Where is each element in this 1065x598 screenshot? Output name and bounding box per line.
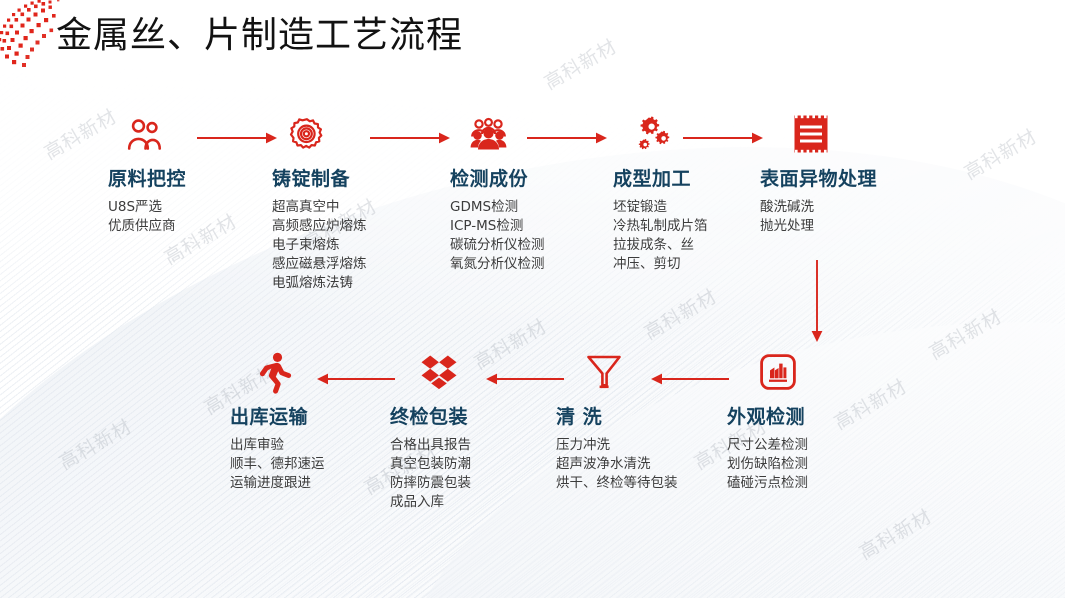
step-detail-line: GDMS检测	[450, 198, 620, 217]
step-detail-list: 出库审验顺丰、德邦速运运输进度跟进	[230, 436, 400, 493]
step-detail-line: 高频感应炉熔炼	[272, 217, 442, 236]
page-title: 金属丝、片制造工艺流程	[56, 6, 463, 58]
step-detail-line: 尺寸公差检测	[727, 436, 897, 455]
step-detail-list: 合格出具报告真空包装防潮防摔防震包装成品入库	[390, 436, 560, 512]
step-title: 出库运输	[230, 402, 400, 429]
step-title: 铸锭制备	[272, 164, 442, 191]
step-detail-line: U8S严选	[108, 198, 278, 217]
people-group-icon	[450, 112, 620, 156]
process-step-forming-processing[interactable]: 成型加工坯锭锻造冷热轧制成片箔拉拔成条、丝冲压、剪切	[613, 112, 783, 274]
process-step-final-inspection-packaging[interactable]: 终检包装合格出具报告真空包装防潮防摔防震包装成品入库	[390, 350, 560, 512]
step-title: 外观检测	[727, 402, 897, 429]
step-detail-line: 拉拔成条、丝	[613, 236, 783, 255]
step-detail-line: 超声波净水清洗	[556, 455, 726, 474]
process-step-composition-testing[interactable]: 检测成份GDMS检测ICP-MS检测碳硫分析仪检测氧氮分析仪检测	[450, 112, 620, 274]
process-step-appearance-inspection[interactable]: 外观检测尺寸公差检测划伤缺陷检测磕碰污点检测	[727, 350, 897, 493]
step-title: 表面异物处理	[760, 164, 930, 191]
people-pair-icon	[108, 112, 278, 156]
step-detail-line: 压力冲洗	[556, 436, 726, 455]
funnel-icon	[556, 350, 726, 394]
process-step-raw-material-control[interactable]: 原料把控U8S严选优质供应商	[108, 112, 278, 236]
step-detail-line: 出库审验	[230, 436, 400, 455]
step-detail-line: 防摔防震包装	[390, 474, 560, 493]
step-detail-list: GDMS检测ICP-MS检测碳硫分析仪检测氧氮分析仪检测	[450, 198, 620, 274]
step-detail-line: 氧氮分析仪检测	[450, 255, 620, 274]
step-detail-list: 坯锭锻造冷热轧制成片箔拉拔成条、丝冲压、剪切	[613, 198, 783, 274]
watermark-text: 高科新材	[854, 502, 937, 565]
step-detail-line: 优质供应商	[108, 217, 278, 236]
step-detail-line: 碳硫分析仪检测	[450, 236, 620, 255]
step-detail-line: 感应磁悬浮熔炼	[272, 255, 442, 274]
step-detail-line: 冲压、剪切	[613, 255, 783, 274]
factory-box-icon	[727, 350, 897, 394]
step-detail-list: 尺寸公差检测划伤缺陷检测磕碰污点检测	[727, 436, 897, 493]
step-detail-list: 超高真空中高频感应炉熔炼电子束熔炼感应磁悬浮熔炼电弧熔炼法铸	[272, 198, 442, 293]
flow-arrow-down	[810, 260, 824, 342]
step-detail-line: 坯锭锻造	[613, 198, 783, 217]
step-detail-line: 抛光处理	[760, 217, 930, 236]
step-detail-list: 压力冲洗超声波净水清洗烘干、终检等待包装	[556, 436, 726, 493]
step-detail-line: 合格出具报告	[390, 436, 560, 455]
step-detail-line: 顺丰、德邦速运	[230, 455, 400, 474]
watermark-text: 高科新材	[924, 302, 1007, 365]
step-detail-line: ICP-MS检测	[450, 217, 620, 236]
process-step-ingot-preparation[interactable]: 铸锭制备超高真空中高频感应炉熔炼电子束熔炼感应磁悬浮熔炼电弧熔炼法铸	[272, 112, 442, 293]
step-detail-line: 烘干、终检等待包装	[556, 474, 726, 493]
step-title: 成型加工	[613, 164, 783, 191]
step-detail-line: 磕碰污点检测	[727, 474, 897, 493]
step-detail-line: 电弧熔炼法铸	[272, 274, 442, 293]
step-detail-list: U8S严选优质供应商	[108, 198, 278, 236]
step-title: 清 洗	[556, 402, 726, 429]
gear-icon	[272, 112, 442, 156]
gears-double-icon	[613, 112, 783, 156]
document-lines-icon	[760, 112, 930, 156]
step-detail-line: 电子束熔炼	[272, 236, 442, 255]
watermark-text: 高科新材	[539, 32, 622, 95]
watermark-text: 高科新材	[639, 282, 722, 345]
process-step-surface-treatment[interactable]: 表面异物处理酸洗碱洗抛光处理	[760, 112, 930, 236]
step-detail-line: 成品入库	[390, 493, 560, 512]
step-title: 检测成份	[450, 164, 620, 191]
watermark-text: 高科新材	[54, 412, 137, 475]
slide-canvas: 高科新材高科新材高科新材高科新材高科新材高科新材高科新材高科新材高科新材高科新材…	[0, 0, 1065, 598]
step-detail-line: 运输进度跟进	[230, 474, 400, 493]
step-title: 终检包装	[390, 402, 560, 429]
step-title: 原料把控	[108, 164, 278, 191]
walking-person-icon	[230, 350, 400, 394]
step-detail-line: 超高真空中	[272, 198, 442, 217]
step-detail-line: 划伤缺陷检测	[727, 455, 897, 474]
step-detail-list: 酸洗碱洗抛光处理	[760, 198, 930, 236]
open-box-icon	[390, 350, 560, 394]
process-step-cleaning[interactable]: 清 洗压力冲洗超声波净水清洗烘干、终检等待包装	[556, 350, 726, 493]
watermark-text: 高科新材	[959, 122, 1042, 185]
process-step-outbound-transport[interactable]: 出库运输出库审验顺丰、德邦速运运输进度跟进	[230, 350, 400, 493]
step-detail-line: 酸洗碱洗	[760, 198, 930, 217]
step-detail-line: 真空包装防潮	[390, 455, 560, 474]
step-detail-line: 冷热轧制成片箔	[613, 217, 783, 236]
